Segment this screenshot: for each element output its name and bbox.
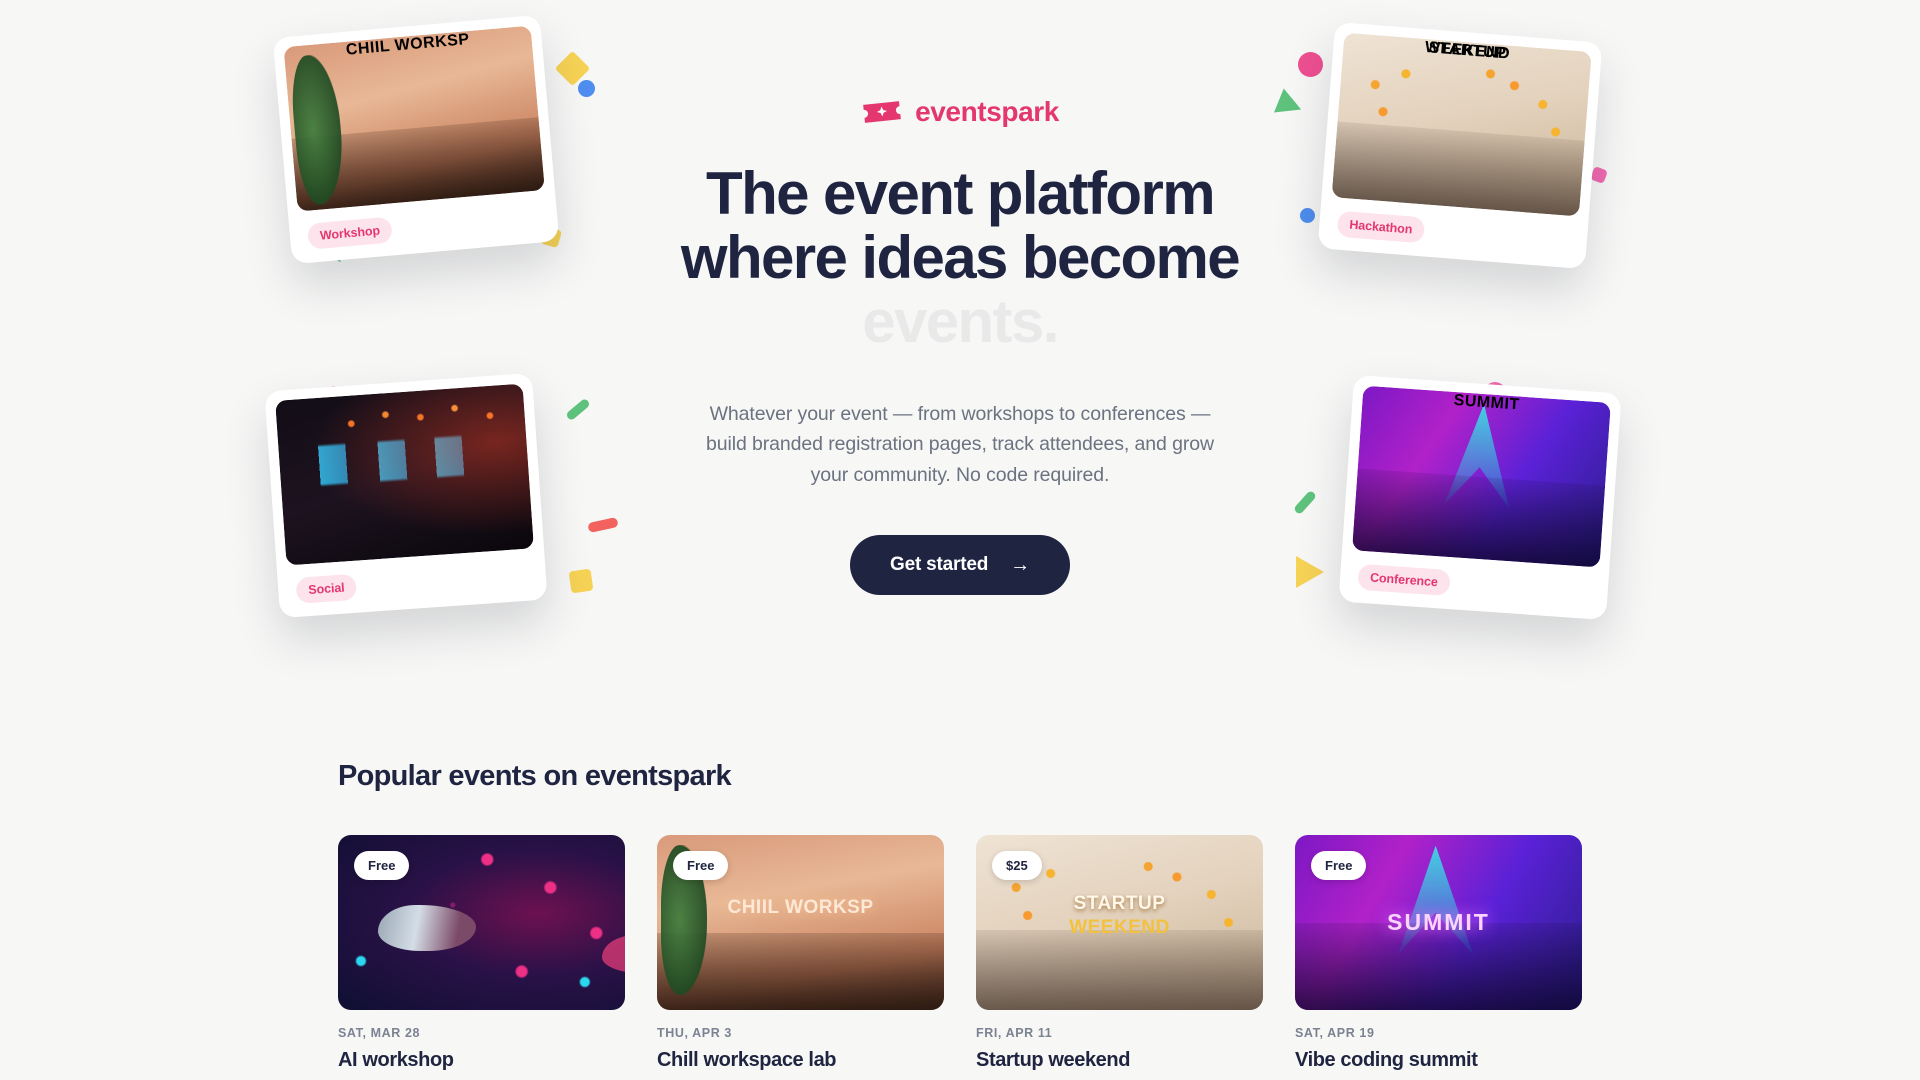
hackathon-thumbnail: STARTUP WEEKEND	[1332, 33, 1592, 217]
conference-thumbnail: SUMMIT	[1352, 386, 1611, 568]
conference-tag: Conference	[1357, 564, 1450, 596]
cta-container: Get started →	[600, 535, 1320, 595]
floating-card-hackathon[interactable]: STARTUP WEEKEND Hackathon	[1318, 22, 1603, 269]
floating-card-workshop[interactable]: CHIIL WORKSP Workshop	[273, 15, 560, 264]
event-card[interactable]: SUMMIT Free SAT, APR 19 Vibe coding summ…	[1295, 835, 1582, 1072]
subhead-line-2: build branded registration pages, track …	[706, 433, 1214, 455]
workshop-thumbnail: CHIIL WORKSP	[283, 26, 544, 212]
price-badge: Free	[673, 851, 728, 880]
event-thumbnail: CHIIL WORKSP Free	[657, 835, 944, 1010]
section-title: Popular events on eventspark	[338, 760, 1582, 793]
event-thumbnail: STARTUP WEEKEND $25	[976, 835, 1263, 1010]
event-thumbnail: Free	[338, 835, 625, 1010]
hero-subheading: Whatever your event — from workshops to …	[600, 399, 1320, 491]
subhead-line-1: Whatever your event — from workshops to …	[710, 403, 1211, 425]
pink-circle-icon-2	[1298, 52, 1323, 77]
event-name: AI workshop	[338, 1049, 625, 1072]
hero-content: eventspark The event platform where idea…	[600, 96, 1320, 595]
brand-name: eventspark	[915, 96, 1059, 128]
page-title: The event platform where ideas become ev…	[600, 162, 1320, 355]
workshop-tag: Workshop	[307, 216, 393, 249]
yellow-square-icon-2	[569, 569, 594, 594]
price-badge: Free	[354, 851, 409, 880]
event-name: Chill workspace lab	[657, 1049, 944, 1072]
get-started-button[interactable]: Get started →	[850, 535, 1070, 595]
event-date: THU, APR 3	[657, 1026, 944, 1040]
events-grid: Free SAT, MAR 28 AI workshop CHIIL WORKS…	[338, 835, 1582, 1072]
floating-card-conference[interactable]: SUMMIT Conference	[1338, 375, 1621, 620]
headline-line-2: where ideas become	[600, 226, 1320, 290]
event-name: Vibe coding summit	[1295, 1049, 1582, 1072]
price-badge: Free	[1311, 851, 1366, 880]
event-thumbnail: SUMMIT Free	[1295, 835, 1582, 1010]
social-tag: Social	[295, 574, 357, 604]
event-date: FRI, APR 11	[976, 1026, 1263, 1040]
landing-page: CHIIL WORKSP Workshop STARTUP WEEKEND Ha…	[0, 0, 1920, 1080]
popular-events-section: Popular events on eventspark Free SAT, M…	[0, 760, 1920, 1072]
event-date: SAT, MAR 28	[338, 1026, 625, 1040]
event-name: Startup weekend	[976, 1049, 1263, 1072]
ticket-icon	[861, 97, 903, 127]
event-date: SAT, APR 19	[1295, 1026, 1582, 1040]
arrow-right-icon: →	[1010, 555, 1030, 575]
floating-card-social[interactable]: Social	[264, 373, 547, 618]
subhead-line-3: your community. No code required.	[811, 464, 1110, 486]
headline-line-3: events.	[600, 290, 1320, 354]
event-card[interactable]: STARTUP WEEKEND $25 FRI, APR 11 Startup …	[976, 835, 1263, 1072]
price-badge: $25	[992, 851, 1042, 880]
get-started-label: Get started	[890, 554, 988, 576]
event-card[interactable]: CHIIL WORKSP Free THU, APR 3 Chill works…	[657, 835, 944, 1072]
blue-circle-icon	[578, 80, 595, 97]
hackathon-tag: Hackathon	[1336, 211, 1425, 244]
social-thumbnail	[275, 384, 534, 566]
brand-logo[interactable]: eventspark	[600, 96, 1320, 128]
green-bar-icon	[565, 398, 591, 422]
headline-line-1: The event platform	[600, 162, 1320, 226]
pink-square-icon-2	[1590, 166, 1608, 184]
hero-section: CHIIL WORKSP Workshop STARTUP WEEKEND Ha…	[0, 0, 1920, 700]
event-card[interactable]: Free SAT, MAR 28 AI workshop	[338, 835, 625, 1072]
